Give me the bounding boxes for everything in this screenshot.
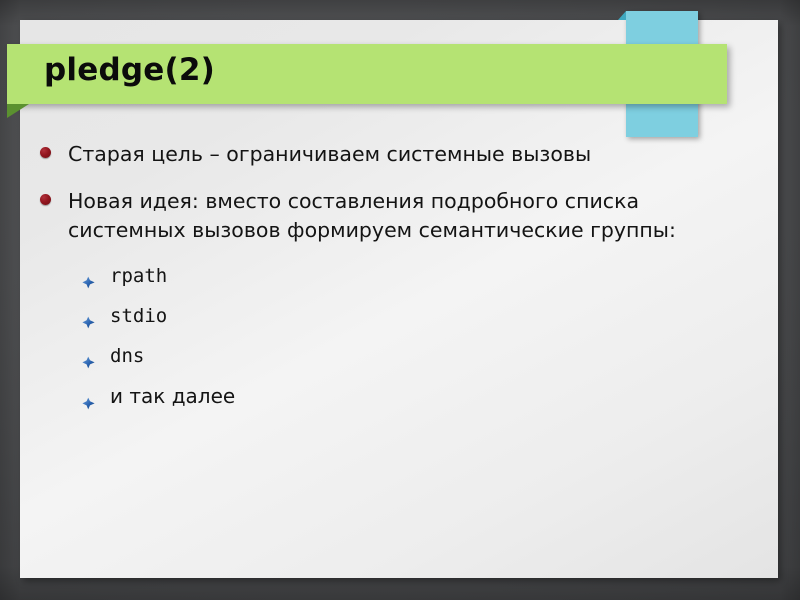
page-title: pledge(2) [44,52,644,88]
title-banner-fold-icon [7,104,29,118]
slide-body: Старая цель – ограничиваем системные выз… [36,140,736,423]
blue-band-fold-icon [618,11,626,20]
blue-arrow-bullet-icon [82,310,95,323]
list-item-label: rpath [110,265,167,287]
list-item-label: Новая идея: вместо составления подробног… [68,189,676,242]
list-item: dns [36,343,736,370]
list-item: и так далее [36,382,736,410]
red-sphere-bullet-icon [40,194,51,205]
list-item-label: stdio [110,305,167,327]
list-item-label: и так далее [110,384,235,408]
blue-arrow-bullet-icon [82,270,95,283]
list-item-label: Старая цель – ограничиваем системные выз… [68,142,591,166]
list-item: Старая цель – ограничиваем системные выз… [36,140,736,169]
blue-arrow-bullet-icon [82,350,95,363]
list-item: stdio [36,303,736,330]
red-sphere-bullet-icon [40,147,51,158]
sub-bullet-list: rpath stdio [36,263,736,410]
blue-arrow-bullet-icon [82,389,95,402]
list-item: Новая идея: вместо составления подробног… [36,187,736,245]
presentation-slide-frame: pledge(2) Старая цель – ограничиваем сис… [0,0,800,600]
list-item: rpath [36,263,736,290]
list-item-label: dns [110,345,144,367]
